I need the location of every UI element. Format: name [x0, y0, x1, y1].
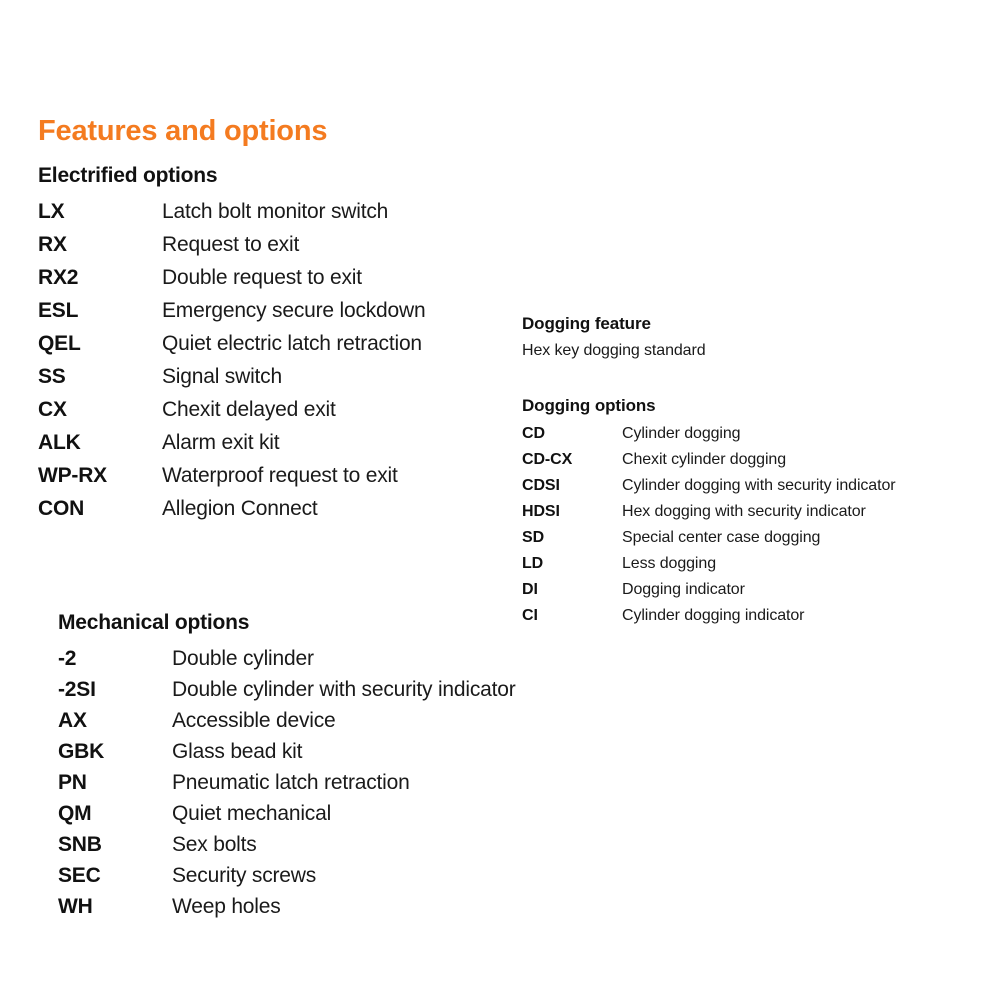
option-description: Cylinder dogging — [622, 425, 740, 443]
option-row: HDSIHex dogging with security indicator — [522, 503, 895, 529]
option-row: PNPneumatic latch retraction — [58, 771, 516, 802]
option-description: Emergency secure lockdown — [162, 299, 425, 323]
option-description: Glass bead kit — [172, 740, 302, 764]
option-row: LXLatch bolt monitor switch — [38, 200, 425, 233]
option-description: Weep holes — [172, 895, 281, 919]
option-description: Alarm exit kit — [162, 431, 279, 455]
option-row: QMQuiet mechanical — [58, 802, 516, 833]
option-description: Waterproof request to exit — [162, 464, 398, 488]
option-row: ALKAlarm exit kit — [38, 431, 425, 464]
option-description: Dogging indicator — [622, 581, 745, 599]
option-description: Accessible device — [172, 709, 336, 733]
section-title-electrified-options: Electrified options — [38, 164, 425, 188]
option-description: Chexit cylinder dogging — [622, 451, 786, 469]
section-dogging-feature: Dogging feature Hex key dogging standard — [522, 314, 706, 360]
option-row: SNBSex bolts — [58, 833, 516, 864]
option-row: AXAccessible device — [58, 709, 516, 740]
option-code: CD — [522, 425, 622, 443]
option-description: Double cylinder with security indicator — [172, 678, 516, 702]
option-row: -2Double cylinder — [58, 647, 516, 678]
option-description: Double cylinder — [172, 647, 314, 671]
option-description: Request to exit — [162, 233, 299, 257]
dogging-options-list: CDCylinder doggingCD-CXChexit cylinder d… — [522, 425, 895, 633]
mechanical-options-list: -2Double cylinder-2SIDouble cylinder wit… — [58, 647, 516, 926]
option-description: Latch bolt monitor switch — [162, 200, 388, 224]
option-code: WH — [58, 895, 172, 919]
option-code: GBK — [58, 740, 172, 764]
option-description: Cylinder dogging indicator — [622, 607, 804, 625]
option-row: WP-RXWaterproof request to exit — [38, 464, 425, 497]
option-code: SEC — [58, 864, 172, 888]
option-code: ESL — [38, 299, 162, 323]
option-code: ALK — [38, 431, 162, 455]
option-description: Hex dogging with security indicator — [622, 503, 866, 521]
option-description: Allegion Connect — [162, 497, 318, 521]
option-description: Signal switch — [162, 365, 282, 389]
option-code: CDSI — [522, 477, 622, 495]
option-description: Double request to exit — [162, 266, 362, 290]
option-row: SSSignal switch — [38, 365, 425, 398]
option-row: DIDogging indicator — [522, 581, 895, 607]
option-row: CDSICylinder dogging with security indic… — [522, 477, 895, 503]
option-row: CD-CXChexit cylinder dogging — [522, 451, 895, 477]
document-page: Features and options Electrified options… — [0, 0, 1000, 1000]
option-code: WP-RX — [38, 464, 162, 488]
option-code: AX — [58, 709, 172, 733]
option-row: CONAllegion Connect — [38, 497, 425, 530]
option-description: Less dogging — [622, 555, 716, 573]
option-row: GBKGlass bead kit — [58, 740, 516, 771]
option-row: ESLEmergency secure lockdown — [38, 299, 425, 332]
option-row: SECSecurity screws — [58, 864, 516, 895]
option-code: SNB — [58, 833, 172, 857]
option-code: -2 — [58, 647, 172, 671]
option-row: -2SIDouble cylinder with security indica… — [58, 678, 516, 709]
option-row: CDCylinder dogging — [522, 425, 895, 451]
option-row: RXRequest to exit — [38, 233, 425, 266]
option-row: QELQuiet electric latch retraction — [38, 332, 425, 365]
section-title-dogging-options: Dogging options — [522, 396, 895, 416]
option-code: HDSI — [522, 503, 622, 521]
option-code: CD-CX — [522, 451, 622, 469]
electrified-options-list: LXLatch bolt monitor switchRXRequest to … — [38, 200, 425, 530]
section-title-mechanical-options: Mechanical options — [58, 611, 516, 635]
dogging-feature-note: Hex key dogging standard — [522, 342, 706, 360]
option-row: RX2Double request to exit — [38, 266, 425, 299]
option-row: CICylinder dogging indicator — [522, 607, 895, 633]
option-row: LDLess dogging — [522, 555, 895, 581]
option-code: LX — [38, 200, 162, 224]
option-code: RX — [38, 233, 162, 257]
option-code: LD — [522, 555, 622, 573]
option-code: SS — [38, 365, 162, 389]
option-description: Special center case dogging — [622, 529, 820, 547]
option-description: Quiet mechanical — [172, 802, 331, 826]
option-row: WHWeep holes — [58, 895, 516, 926]
option-code: CX — [38, 398, 162, 422]
option-code: QEL — [38, 332, 162, 356]
option-description: Cylinder dogging with security indicator — [622, 477, 895, 495]
option-code: PN — [58, 771, 172, 795]
section-dogging-options: Dogging options CDCylinder doggingCD-CXC… — [522, 396, 895, 633]
option-code: CON — [38, 497, 162, 521]
option-code: DI — [522, 581, 622, 599]
option-code: CI — [522, 607, 622, 625]
option-description: Security screws — [172, 864, 316, 888]
option-description: Quiet electric latch retraction — [162, 332, 422, 356]
option-code: SD — [522, 529, 622, 547]
option-code: -2SI — [58, 678, 172, 702]
option-row: SDSpecial center case dogging — [522, 529, 895, 555]
option-code: QM — [58, 802, 172, 826]
page-title: Features and options — [38, 115, 327, 148]
section-electrified-options: Electrified options LXLatch bolt monitor… — [38, 164, 425, 530]
option-code: RX2 — [38, 266, 162, 290]
section-mechanical-options: Mechanical options -2Double cylinder-2SI… — [58, 611, 516, 926]
option-description: Pneumatic latch retraction — [172, 771, 410, 795]
section-title-dogging-feature: Dogging feature — [522, 314, 706, 334]
option-description: Chexit delayed exit — [162, 398, 336, 422]
option-description: Sex bolts — [172, 833, 257, 857]
option-row: CXChexit delayed exit — [38, 398, 425, 431]
